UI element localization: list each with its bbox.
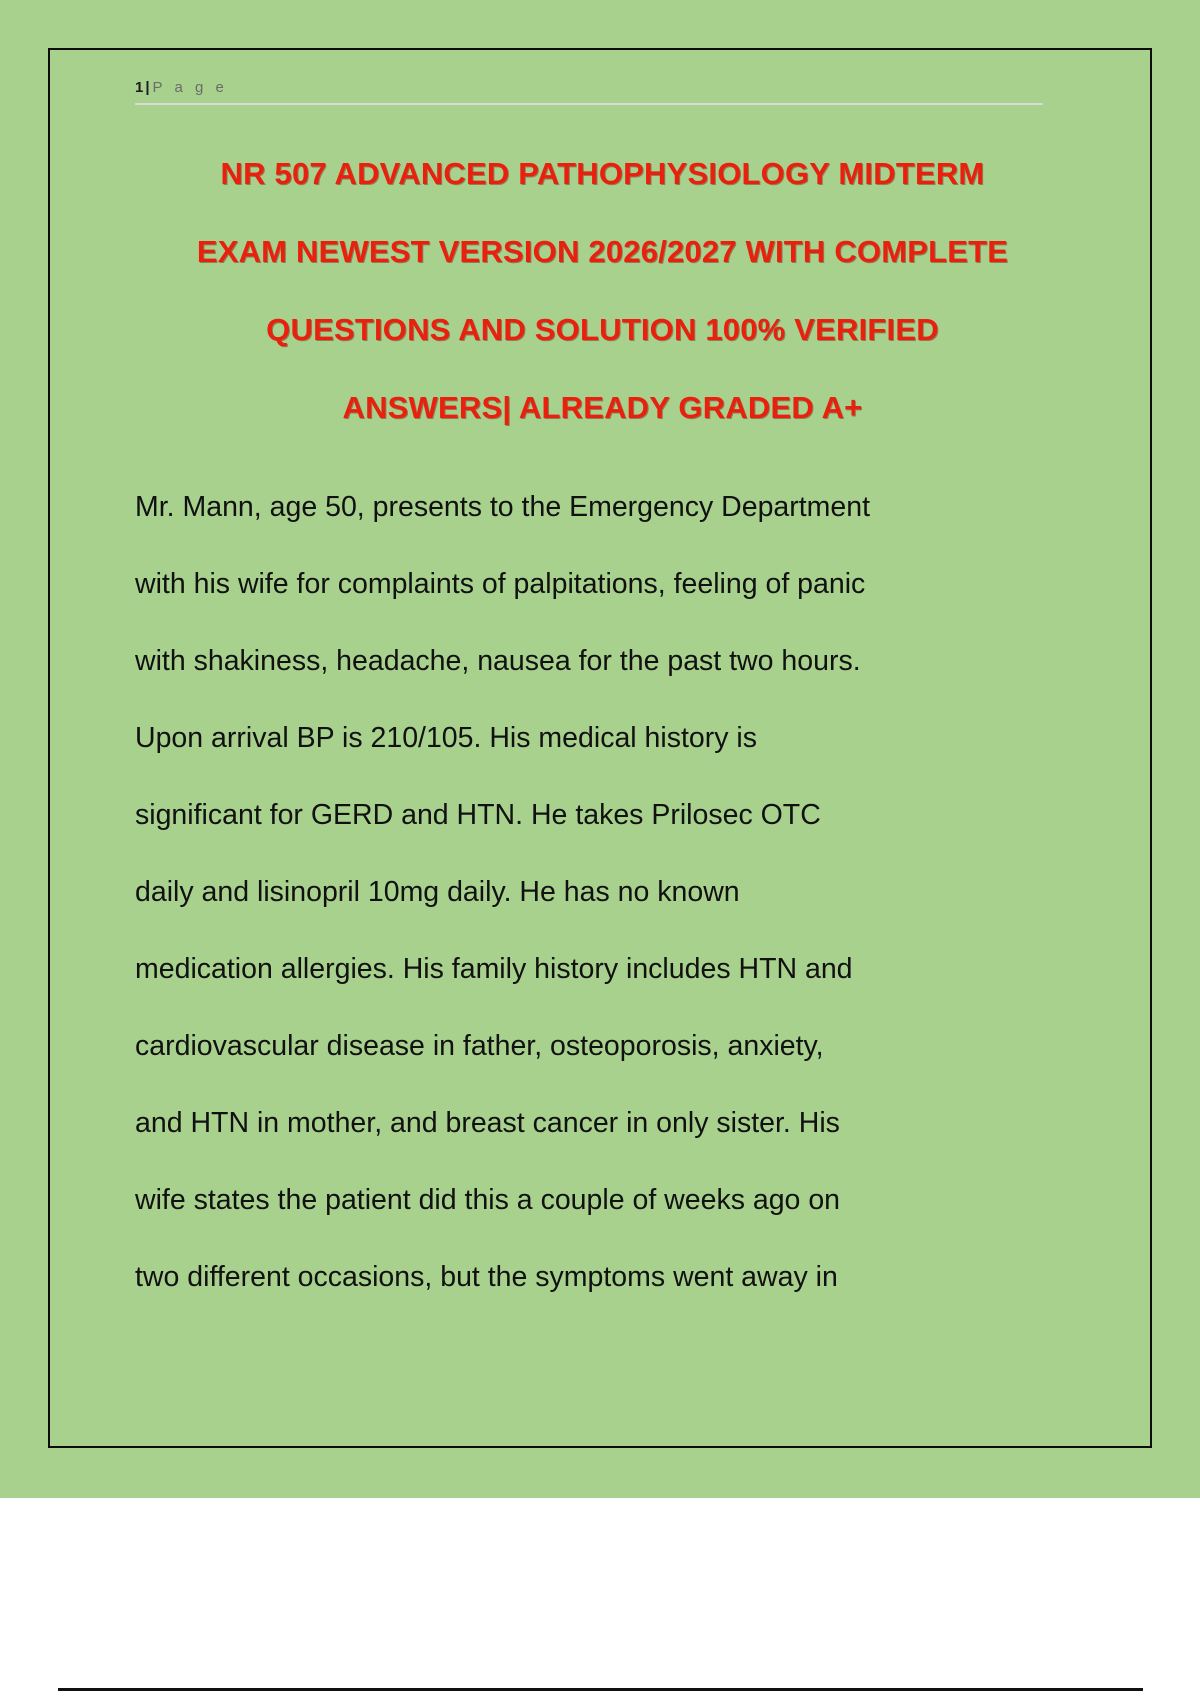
header-divider	[135, 103, 1043, 105]
title-line-2: EXAM NEWEST VERSION 2026/2027 WITH COMPL…	[135, 213, 1070, 291]
page-separator-gap	[0, 1498, 1200, 1700]
body-line-7: medication allergies. His family history…	[135, 931, 1070, 1008]
header-page-word: P a g e	[153, 79, 228, 96]
page-2-top-border	[58, 1688, 1143, 1691]
title-line-1: NR 507 ADVANCED PATHOPHYSIOLOGY MIDTERM	[135, 135, 1070, 213]
body-line-11: two different occasions, but the symptom…	[135, 1239, 1070, 1316]
title-line-3: QUESTIONS AND SOLUTION 100% VERIFIED	[135, 291, 1070, 369]
document-viewer: 1|P a g e NR 507 ADVANCED PATHOPHYSIOLOG…	[0, 0, 1200, 1700]
document-title: NR 507 ADVANCED PATHOPHYSIOLOGY MIDTERM …	[135, 135, 1070, 447]
body-line-5: significant for GERD and HTN. He takes P…	[135, 777, 1070, 854]
case-scenario-paragraph: Mr. Mann, age 50, presents to the Emerge…	[135, 469, 1070, 1316]
body-line-1: Mr. Mann, age 50, presents to the Emerge…	[135, 469, 1070, 546]
body-line-10: wife states the patient did this a coupl…	[135, 1162, 1070, 1239]
body-line-6: daily and lisinopril 10mg daily. He has …	[135, 854, 1070, 931]
running-header: 1|P a g e	[135, 70, 1070, 97]
body-line-3: with shakiness, headache, nausea for the…	[135, 623, 1070, 700]
body-line-2: with his wife for complaints of palpitat…	[135, 546, 1070, 623]
title-line-4: ANSWERS| ALREADY GRADED A+	[135, 369, 1070, 447]
body-line-8: cardiovascular disease in father, osteop…	[135, 1008, 1070, 1085]
body-line-9: and HTN in mother, and breast cancer in …	[135, 1085, 1070, 1162]
page-1-sheet: 1|P a g e NR 507 ADVANCED PATHOPHYSIOLOG…	[0, 0, 1200, 1498]
header-page-number: 1	[135, 79, 143, 96]
body-line-4: Upon arrival BP is 210/105. His medical …	[135, 700, 1070, 777]
header-separator: |	[145, 79, 149, 96]
page-content-area: 1|P a g e NR 507 ADVANCED PATHOPHYSIOLOG…	[135, 70, 1070, 1316]
page-border-frame: 1|P a g e NR 507 ADVANCED PATHOPHYSIOLOG…	[48, 48, 1152, 1448]
